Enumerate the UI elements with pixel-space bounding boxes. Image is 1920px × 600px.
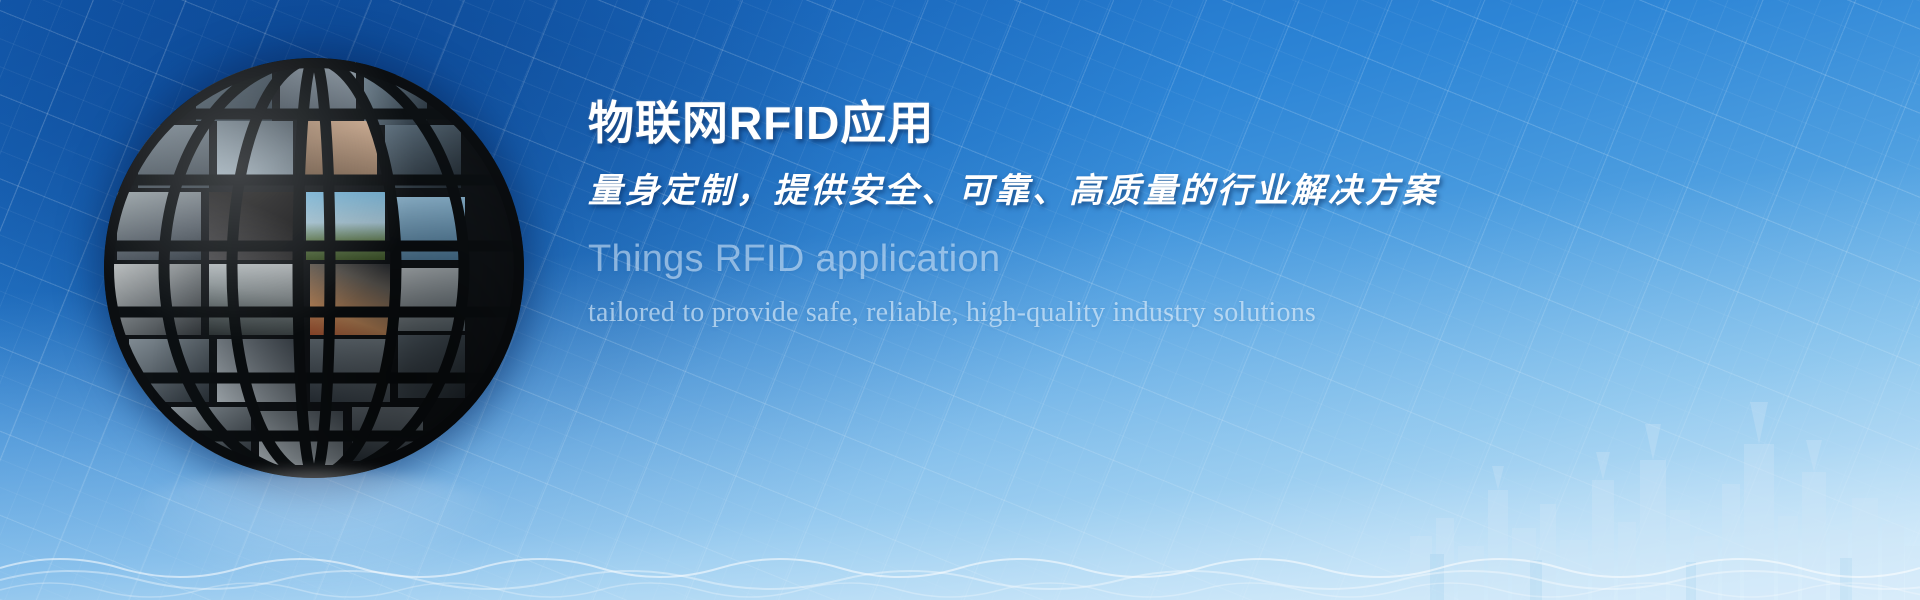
city-skyline-icon (1400, 340, 1920, 600)
wave-decoration-icon (0, 510, 1920, 600)
globe-tile (129, 339, 209, 402)
globe-tile (112, 264, 200, 335)
globe-tile (310, 264, 390, 335)
globe-tile (301, 121, 377, 184)
banner-subtitle-en2: tailored to provide safe, reliable, high… (588, 296, 1868, 330)
globe-tile (117, 192, 201, 259)
globe-tile (217, 121, 293, 184)
globe-tile (259, 411, 343, 466)
banner-subtitle-en: Things RFID application (588, 238, 1868, 282)
globe-tile (217, 339, 301, 402)
globe-tile (364, 75, 427, 125)
globe-tile (171, 407, 251, 462)
globe-tile (385, 125, 461, 188)
globe-tile (310, 339, 390, 402)
banner-title: 物联网RFID应用 (588, 98, 1868, 150)
globe-reflection (104, 470, 524, 590)
rfid-hero-banner: 物联网RFID应用 量身定制，提供安全、可靠、高质量的行业解决方案 Things… (0, 0, 1920, 600)
globe-tile (209, 264, 301, 335)
banner-copy: 物联网RFID应用 量身定制，提供安全、可靠、高质量的行业解决方案 Things… (588, 98, 1868, 329)
globe-tile (138, 125, 209, 188)
globe-tile (398, 335, 465, 398)
globe-tile (196, 66, 272, 121)
globe-tile (398, 268, 465, 331)
globe-tile (394, 197, 465, 260)
globe-tile (209, 192, 297, 259)
globe-tile (352, 407, 423, 462)
globe-tile (280, 62, 356, 117)
banner-subtitle-cn: 量身定制，提供安全、可靠、高质量的行业解决方案 (588, 170, 1868, 213)
photo-mosaic-globe (104, 58, 524, 478)
globe-sphere (104, 58, 524, 478)
globe-tile (306, 192, 386, 259)
